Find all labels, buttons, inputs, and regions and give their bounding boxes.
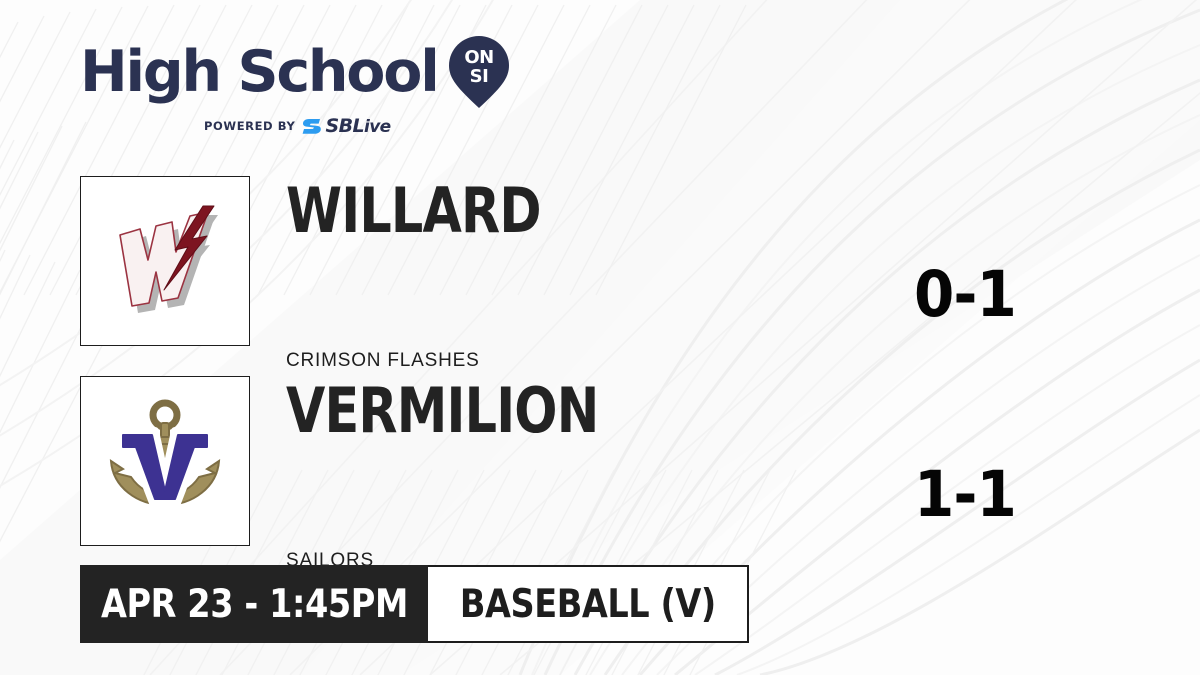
team-logo-box-away bbox=[80, 176, 250, 346]
sblive-logo: SBLive bbox=[302, 115, 390, 137]
team-text-away: WILLARD CRIMSON FLASHES bbox=[286, 176, 597, 372]
matchup-graphic: High School ON SI POWERED BY SBLive bbox=[0, 0, 1200, 675]
game-sport: BASEBALL (V) bbox=[459, 582, 715, 627]
team-logo-box-home bbox=[80, 376, 250, 546]
game-datetime: APR 23 - 1:45PM bbox=[101, 582, 408, 627]
sblive-word-upper: SBL bbox=[325, 115, 363, 137]
powered-by-label: POWERED BY bbox=[204, 119, 295, 133]
sblive-bolt-icon bbox=[302, 118, 322, 135]
team-row-away: WILLARD CRIMSON FLASHES bbox=[80, 176, 597, 372]
sblive-word-lower: ive bbox=[364, 117, 391, 137]
willard-w-lightning-logo-icon bbox=[100, 196, 230, 326]
powered-by-row: POWERED BY SBLive bbox=[204, 115, 560, 137]
team-record-away: 0-1 bbox=[850, 258, 1080, 331]
team-name-away: WILLARD bbox=[286, 180, 541, 242]
team-name-home: VERMILION bbox=[286, 380, 598, 442]
team-row-home: VERMILION SAILORS bbox=[80, 376, 667, 572]
game-sport-block: BASEBALL (V) bbox=[428, 565, 749, 643]
sblive-wordmark: SBLive bbox=[325, 115, 390, 137]
game-info-bar: APR 23 - 1:45PM BASEBALL (V) bbox=[80, 565, 749, 643]
brand-row: High School ON SI bbox=[80, 34, 560, 110]
brand-header: High School ON SI POWERED BY SBLive bbox=[80, 34, 560, 137]
vermilion-v-anchor-logo-icon bbox=[99, 399, 231, 523]
on-si-pin-icon: ON SI bbox=[448, 34, 510, 110]
svg-text:ON: ON bbox=[464, 47, 493, 68]
game-datetime-block: APR 23 - 1:45PM bbox=[80, 565, 428, 643]
team-record-home: 1-1 bbox=[850, 458, 1080, 531]
team-mascot-away: CRIMSON FLASHES bbox=[286, 350, 597, 372]
brand-title: High School bbox=[80, 45, 438, 99]
svg-text:SI: SI bbox=[469, 66, 488, 87]
team-text-home: VERMILION SAILORS bbox=[286, 376, 667, 572]
